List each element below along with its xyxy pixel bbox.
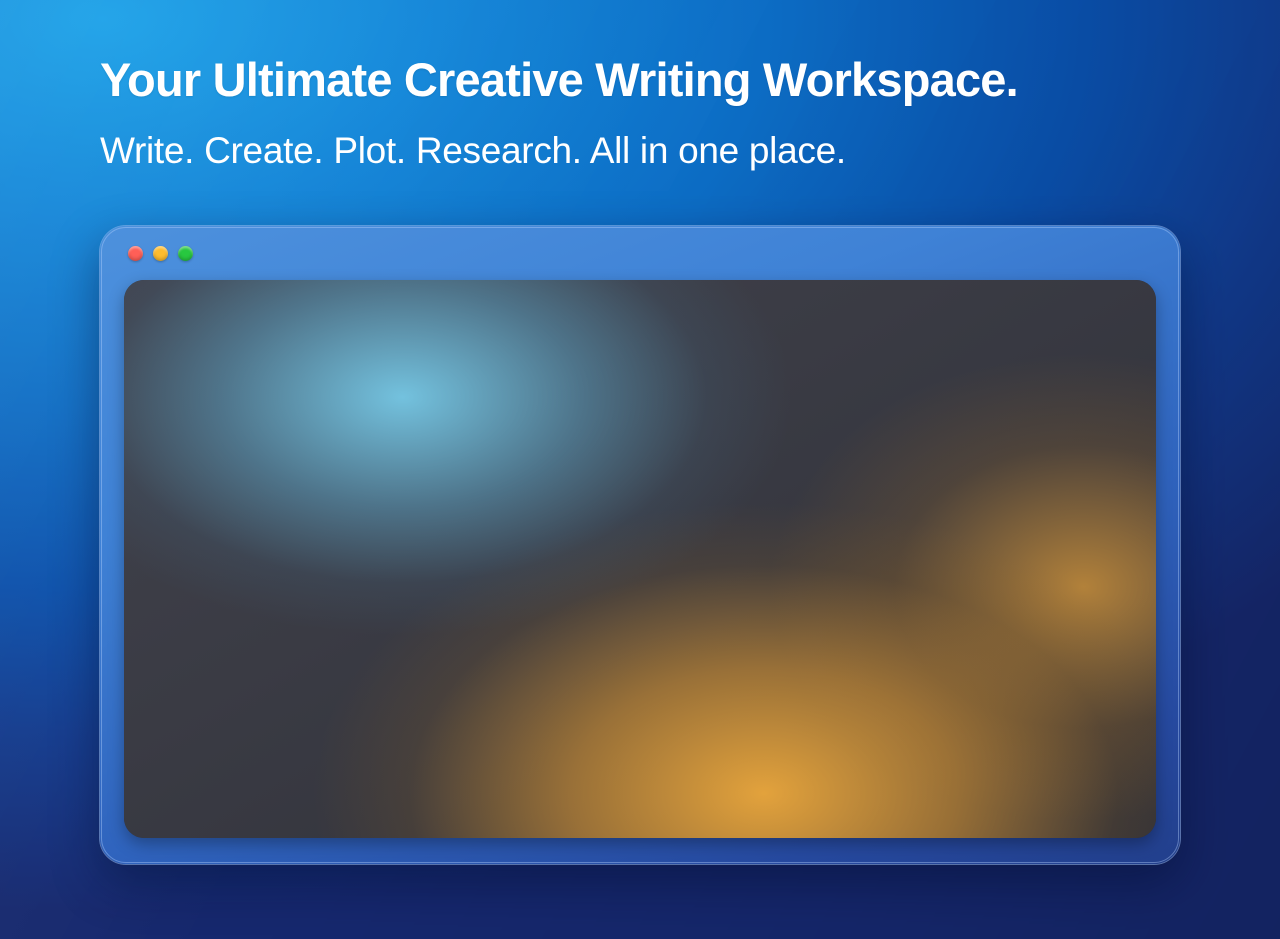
page-title: Your Ultimate Creative Writing Workspace…: [100, 52, 1210, 107]
minimize-button-dot[interactable]: [153, 246, 168, 261]
app-window: [100, 226, 1180, 864]
screen-glow-backdrop: [124, 280, 1156, 838]
maximize-button-dot[interactable]: [178, 246, 193, 261]
page-root: Your Ultimate Creative Writing Workspace…: [0, 0, 1280, 939]
app-screen: [124, 280, 1156, 838]
window-titlebar: [100, 226, 1180, 281]
traffic-lights: [128, 246, 193, 261]
page-subtitle: Write. Create. Plot. Research. All in on…: [100, 129, 1210, 173]
hero-block: Your Ultimate Creative Writing Workspace…: [100, 52, 1210, 174]
close-button-dot[interactable]: [128, 246, 143, 261]
